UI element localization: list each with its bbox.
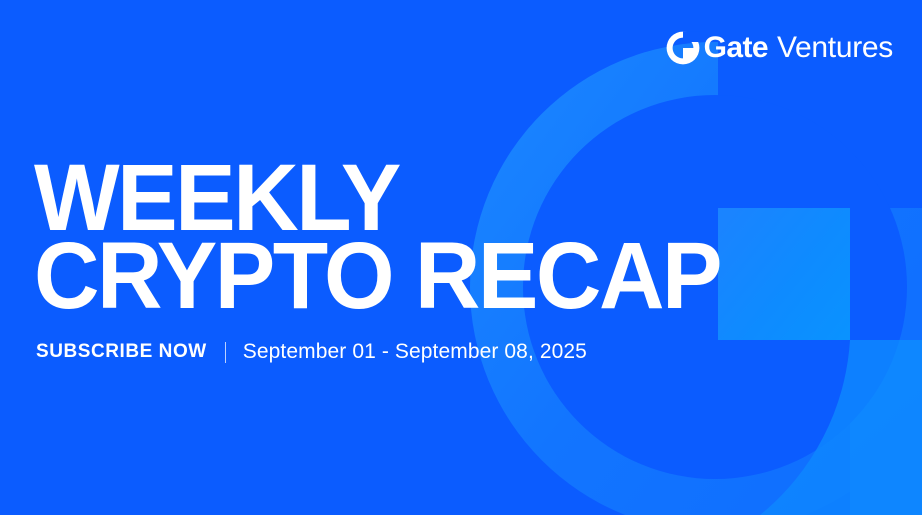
- logo-corner-block-group: [850, 340, 922, 515]
- subscribe-now-label[interactable]: SUBSCRIBE NOW: [36, 341, 207, 363]
- subtitle-divider: [225, 342, 226, 363]
- weekly-crypto-recap-banner: Gate Ventures WEEKLY CRYPTO RECAP SUBSCR…: [0, 0, 922, 515]
- logo-corner-block: [850, 340, 922, 515]
- headline-line-2: CRYPTO RECAP: [34, 236, 720, 316]
- brand-logo-lockup: Gate Ventures: [666, 31, 893, 65]
- subtitle-row: SUBSCRIBE NOW September 01 - September 0…: [36, 340, 587, 364]
- page-title: WEEKLY CRYPTO RECAP: [34, 158, 752, 317]
- gate-g-logo-icon: [666, 31, 700, 65]
- date-range-label: September 01 - September 08, 2025: [243, 340, 587, 364]
- brand-name-ventures: Ventures: [777, 33, 893, 63]
- logo-glow-wedge: [760, 340, 922, 515]
- brand-name-gate: Gate: [704, 33, 768, 63]
